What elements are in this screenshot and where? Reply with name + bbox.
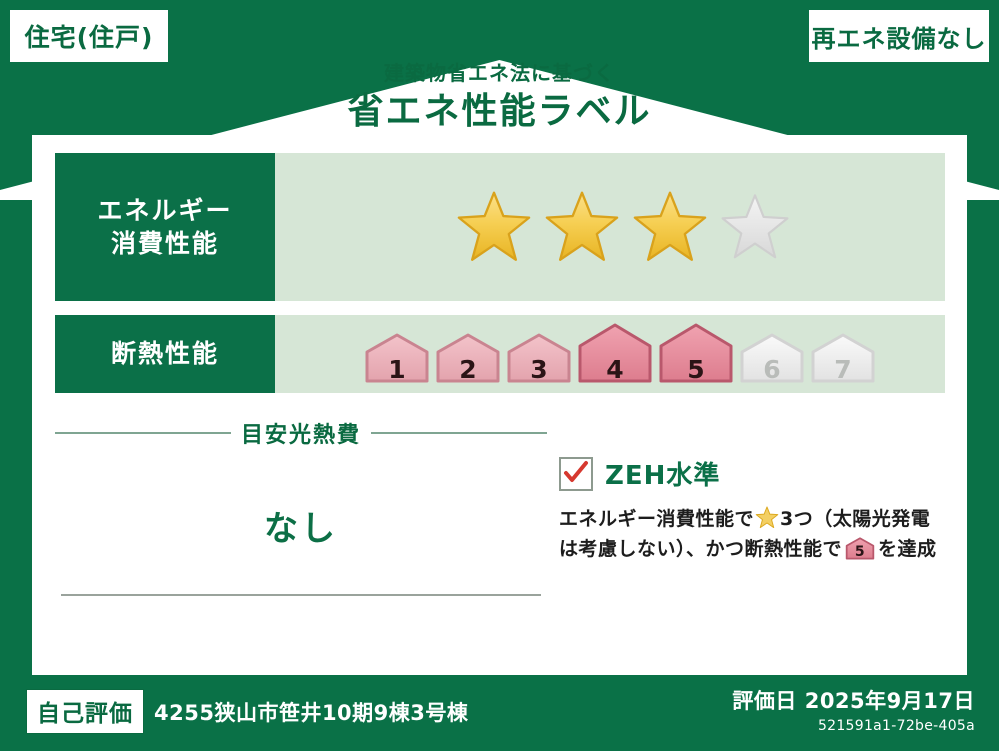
insulation-badge-3-label: 3 [506, 357, 572, 382]
insulation-badge-inline: 5 [845, 536, 875, 560]
building-type-tag: 住宅(住戸) [8, 8, 170, 64]
check-icon [563, 460, 589, 486]
zeh-description-line2-a: は考慮しない）、かつ断熱性能で [559, 538, 842, 560]
star-icon-filled-2 [543, 189, 621, 265]
utility-cost-section: 目安光熱費 なし [55, 407, 547, 596]
lower-section: 目安光熱費 なし ZEH水準 エネルギー消費性能で3つ（太陽光発電 [55, 407, 945, 596]
label-title-block: 建築物省エネ法に基づく 省エネ性能ラベル [0, 60, 999, 134]
insulation-performance-label-text: 断熱性能 [111, 337, 219, 370]
zeh-section: ZEH水準 エネルギー消費性能で3つ（太陽光発電 は考慮しない）、かつ断熱性能で… [547, 407, 945, 596]
star-icon-filled-3 [631, 189, 709, 265]
label-subtitle: 建築物省エネ法に基づく [0, 60, 999, 87]
energy-performance-rating [275, 153, 945, 301]
utility-cost-divider [61, 594, 541, 596]
energy-performance-row: エネルギー 消費性能 [55, 153, 945, 301]
energy-performance-label: エネルギー 消費性能 [55, 153, 275, 301]
evaluation-date-value: 2025年9月17日 [805, 689, 975, 713]
evaluation-id: 521591a1-72be-405a [732, 718, 975, 734]
insulation-performance-rating: 1 2 3 [275, 315, 945, 393]
insulation-badge-2: 2 [435, 330, 501, 388]
energy-performance-label-line2: 消費性能 [111, 227, 219, 260]
zeh-heading: ZEH水準 [559, 455, 945, 492]
building-type-tag-label: 住宅(住戸) [25, 18, 154, 54]
insulation-badge-5-label: 5 [658, 357, 734, 382]
label-footer: 自己評価 4255狭山市笹井10期9棟3号棟 評価日 2025年9月17日 52… [0, 675, 999, 751]
property-address: 4255狭山市笹井10期9棟3号棟 [154, 697, 468, 727]
insulation-badge-1: 1 [364, 330, 430, 388]
insulation-badge-2-label: 2 [435, 357, 501, 382]
zeh-title: ZEH水準 [605, 455, 720, 492]
insulation-performance-label: 断熱性能 [55, 315, 275, 393]
star-icon-filled-1 [455, 189, 533, 265]
renewable-energy-tag: 再エネ設備なし [807, 8, 991, 64]
self-evaluation-badge: 自己評価 [26, 689, 144, 734]
insulation-badge-6-label: 6 [739, 357, 805, 382]
insulation-badge-4: 4 [577, 320, 653, 388]
insulation-badge-4-label: 4 [577, 357, 653, 382]
utility-cost-value: なし [55, 449, 547, 550]
insulation-level-badges: 1 2 3 [364, 320, 876, 388]
insulation-badge-1-label: 1 [364, 357, 430, 382]
energy-performance-label: 住宅(住戸) 再エネ設備なし 建築物省エネ法に基づく 省エネ性能ラベル エネルギ… [0, 0, 999, 751]
insulation-badge-6: 6 [739, 330, 805, 388]
label-content: エネルギー 消費性能 [55, 153, 945, 596]
zeh-description-line2-b: を達成 [878, 538, 937, 560]
insulation-badge-7: 7 [810, 330, 876, 388]
utility-cost-heading: 目安光熱費 [55, 417, 547, 449]
utility-cost-heading-label: 目安光熱費 [241, 417, 361, 449]
insulation-performance-row: 断熱性能 [55, 315, 945, 393]
star-icon-inline [755, 506, 779, 529]
utility-cost-rule-left [55, 432, 231, 434]
label-title: 省エネ性能ラベル [0, 89, 999, 134]
footer-left: 自己評価 4255狭山市笹井10期9棟3号棟 [26, 689, 468, 734]
energy-performance-label-line1: エネルギー [97, 194, 232, 227]
insulation-badge-5: 5 [658, 320, 734, 388]
footer-right: 評価日 2025年9月17日 521591a1-72be-405a [732, 685, 975, 734]
renewable-energy-tag-label: 再エネ設備なし [812, 19, 987, 54]
insulation-badge-7-label: 7 [810, 357, 876, 382]
zeh-description: エネルギー消費性能で3つ（太陽光発電 は考慮しない）、かつ断熱性能で5を達成 [559, 504, 945, 565]
evaluation-date: 評価日 2025年9月17日 [732, 685, 975, 715]
zeh-description-line1-b: 3つ（太陽光発電 [780, 508, 930, 530]
utility-cost-rule-right [371, 432, 547, 434]
evaluation-date-label: 評価日 [732, 689, 797, 713]
zeh-checkbox[interactable] [559, 457, 593, 491]
insulation-badge-inline-label: 5 [845, 545, 875, 559]
star-rating [455, 189, 791, 265]
insulation-badge-3: 3 [506, 330, 572, 388]
star-icon-empty-4 [719, 192, 791, 262]
zeh-description-line1-a: エネルギー消費性能で [559, 508, 754, 530]
